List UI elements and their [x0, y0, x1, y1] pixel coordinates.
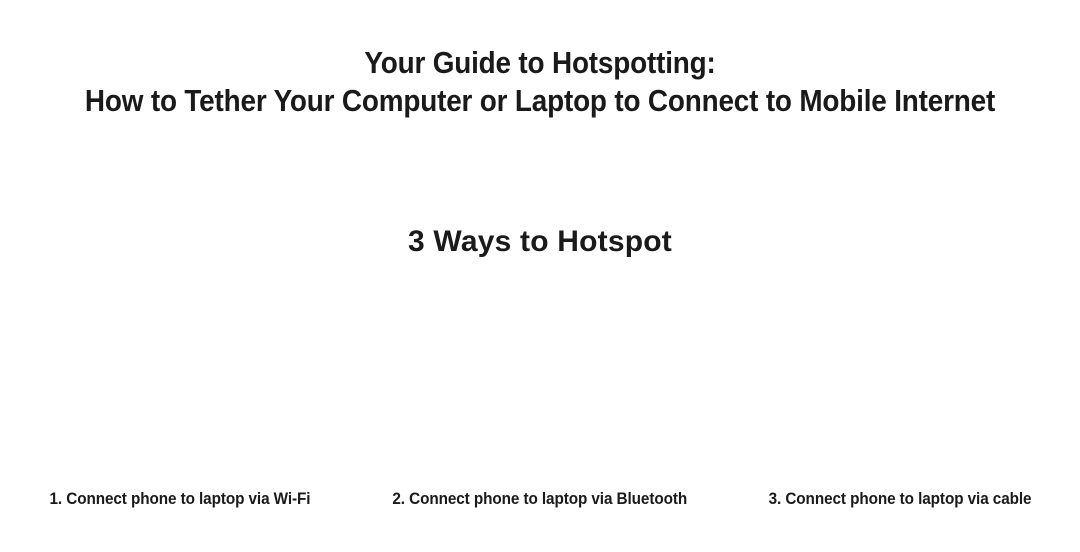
caption-row: 1. Connect phone to laptop via Wi-Fi 2. …: [0, 488, 1080, 510]
illustration-row: [0, 288, 1080, 478]
caption-cell-cable: 3. Connect phone to laptop via cable: [720, 488, 1080, 510]
page-title-line-1: Your Guide to Hotspotting:: [54, 44, 1026, 82]
method-caption-cable: 3. Connect phone to laptop via cable: [769, 488, 1032, 510]
article-page: Your Guide to Hotspotting: How to Tether…: [0, 0, 1080, 552]
illustration-cell-wifi: [0, 288, 360, 478]
illustration-cell-bluetooth: [360, 288, 720, 478]
page-title: Your Guide to Hotspotting: How to Tether…: [0, 44, 1080, 120]
caption-cell-bluetooth: 2. Connect phone to laptop via Bluetooth: [360, 488, 720, 510]
phone-to-laptop-cable-illustration: [720, 288, 1080, 478]
section-heading: 3 Ways to Hotspot: [0, 222, 1080, 262]
illustration-cell-cable: [720, 288, 1080, 478]
phone-to-laptop-wifi-illustration: [0, 288, 360, 478]
page-title-line-2: How to Tether Your Computer or Laptop to…: [54, 82, 1026, 120]
phone-to-laptop-bluetooth-illustration: [360, 288, 720, 478]
caption-cell-wifi: 1. Connect phone to laptop via Wi-Fi: [0, 488, 360, 510]
method-caption-bluetooth: 2. Connect phone to laptop via Bluetooth: [393, 488, 688, 510]
method-caption-wifi: 1. Connect phone to laptop via Wi-Fi: [50, 488, 311, 510]
